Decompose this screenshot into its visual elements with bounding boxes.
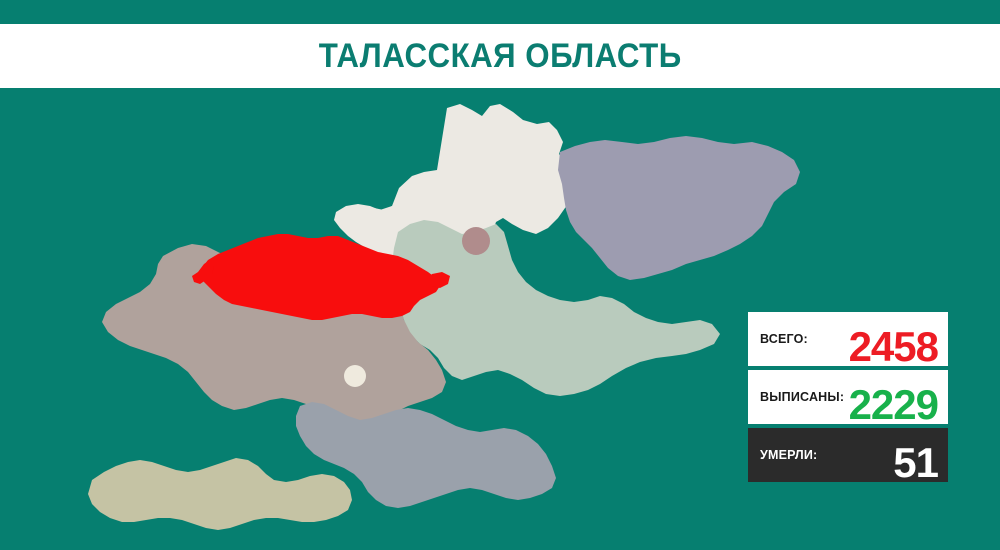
stats-panel: ВСЕГО: 2458 ВЫПИСАНЫ: 2229 УМЕРЛИ: 51 (748, 312, 948, 482)
title-band: ТАЛАССКАЯ ОБЛАСТЬ (0, 24, 1000, 88)
stat-value-discharged: 2229 (849, 384, 938, 426)
region-issykkul (558, 136, 800, 280)
stat-label-discharged: ВЫПИСАНЫ: (748, 390, 844, 404)
stat-row-died: УМЕРЛИ: 51 (748, 428, 948, 482)
region-batken (88, 458, 352, 530)
infographic-page: ТАЛАССКАЯ ОБЛАСТЬ (0, 0, 1000, 550)
city-marker-osh (344, 365, 366, 387)
page-title: ТАЛАССКАЯ ОБЛАСТЬ (319, 37, 682, 76)
stat-value-total: 2458 (849, 326, 938, 368)
stat-row-discharged: ВЫПИСАНЫ: 2229 (748, 370, 948, 424)
stat-label-died: УМЕРЛИ: (748, 448, 817, 462)
stat-label-total: ВСЕГО: (748, 332, 808, 346)
stat-row-total: ВСЕГО: 2458 (748, 312, 948, 366)
city-marker-bishkek (462, 227, 490, 255)
stat-value-died: 51 (893, 442, 938, 484)
